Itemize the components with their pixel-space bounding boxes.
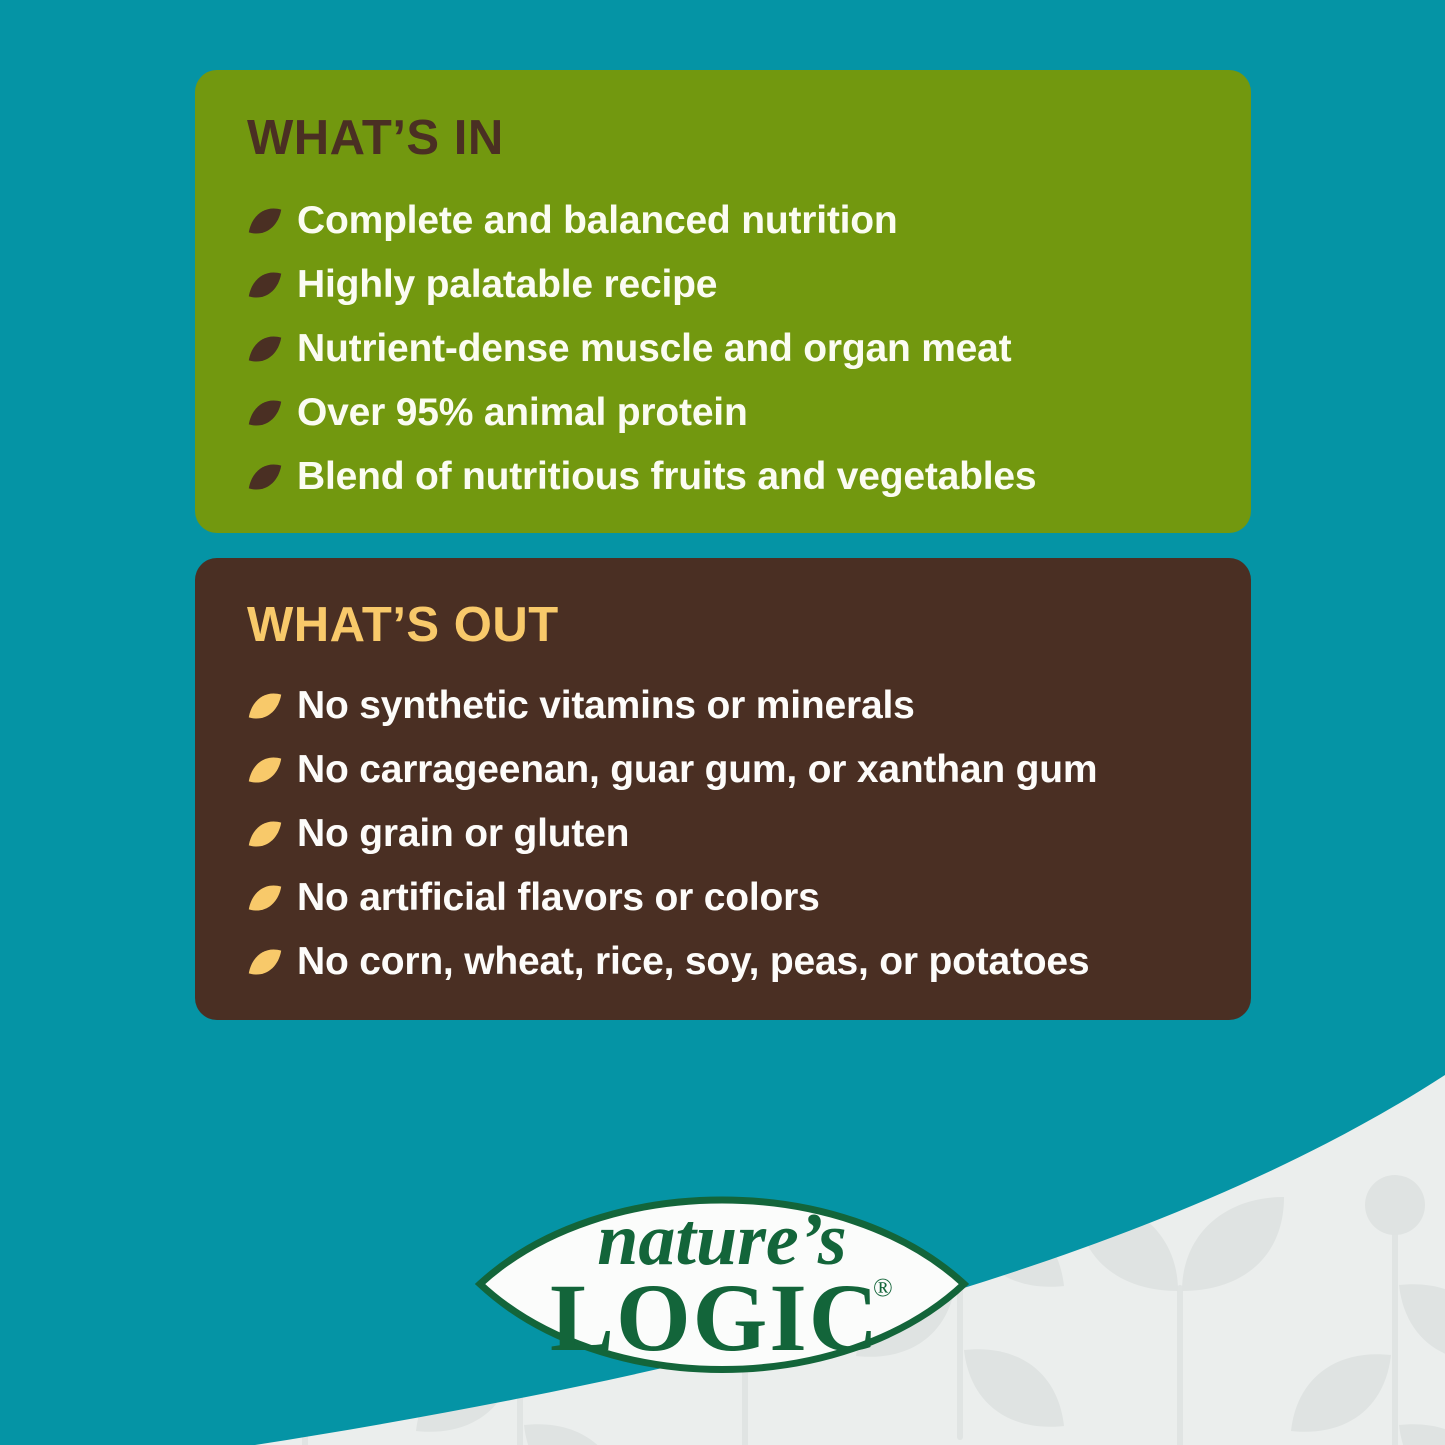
list-item-label: Over 95% animal protein <box>297 393 748 432</box>
promo-graphic: WHAT’S IN Complete and balanced nutritio… <box>0 0 1445 1445</box>
list-item: No corn, wheat, rice, soy, peas, or pota… <box>247 929 1231 993</box>
list-item: Complete and balanced nutrition <box>247 188 1231 252</box>
list-item: No artificial flavors or colors <box>247 865 1231 929</box>
leaf-icon <box>247 459 283 495</box>
whats-out-heading: WHAT’S OUT <box>247 601 559 650</box>
whats-in-panel: WHAT’S IN Complete and balanced nutritio… <box>195 70 1251 533</box>
list-item: No carrageenan, guar gum, or xanthan gum <box>247 737 1231 801</box>
list-item-label: Complete and balanced nutrition <box>297 201 898 240</box>
leaf-icon <box>247 880 283 916</box>
list-item-label: No carrageenan, guar gum, or xanthan gum <box>297 750 1097 789</box>
list-item: No grain or gluten <box>247 801 1231 865</box>
list-item-label: No artificial flavors or colors <box>297 878 820 917</box>
leaf-icon <box>247 203 283 239</box>
leaf-icon <box>247 752 283 788</box>
list-item-label: No grain or gluten <box>297 814 629 853</box>
list-item: Over 95% animal protein <box>247 380 1231 444</box>
whats-out-panel: WHAT’S OUT No synthetic vitamins or mine… <box>195 558 1251 1020</box>
logo-word-text: LOGIC <box>550 1264 880 1371</box>
whats-in-heading: WHAT’S IN <box>247 114 504 163</box>
registered-mark: ® <box>873 1273 893 1302</box>
brand-logo: nature’s LOGIC ® <box>472 1136 972 1426</box>
leaf-icon <box>247 267 283 303</box>
leaf-icon <box>247 688 283 724</box>
leaf-icon <box>247 816 283 852</box>
list-item-label: Highly palatable recipe <box>297 265 717 304</box>
leaf-icon <box>247 395 283 431</box>
list-item: Blend of nutritious fruits and vegetable… <box>247 444 1231 508</box>
list-item-label: No synthetic vitamins or minerals <box>297 686 915 725</box>
list-item: Highly palatable recipe <box>247 252 1231 316</box>
list-item-label: Nutrient-dense muscle and organ meat <box>297 329 1011 368</box>
list-item-label: No corn, wheat, rice, soy, peas, or pota… <box>297 942 1089 981</box>
list-item-label: Blend of nutritious fruits and vegetable… <box>297 457 1036 496</box>
leaf-icon <box>247 944 283 980</box>
whats-out-bullet-list: No synthetic vitamins or minerals No car… <box>247 673 1231 993</box>
whats-in-bullet-list: Complete and balanced nutrition Highly p… <box>247 188 1231 508</box>
list-item: No synthetic vitamins or minerals <box>247 673 1231 737</box>
leaf-icon <box>247 331 283 367</box>
list-item: Nutrient-dense muscle and organ meat <box>247 316 1231 380</box>
